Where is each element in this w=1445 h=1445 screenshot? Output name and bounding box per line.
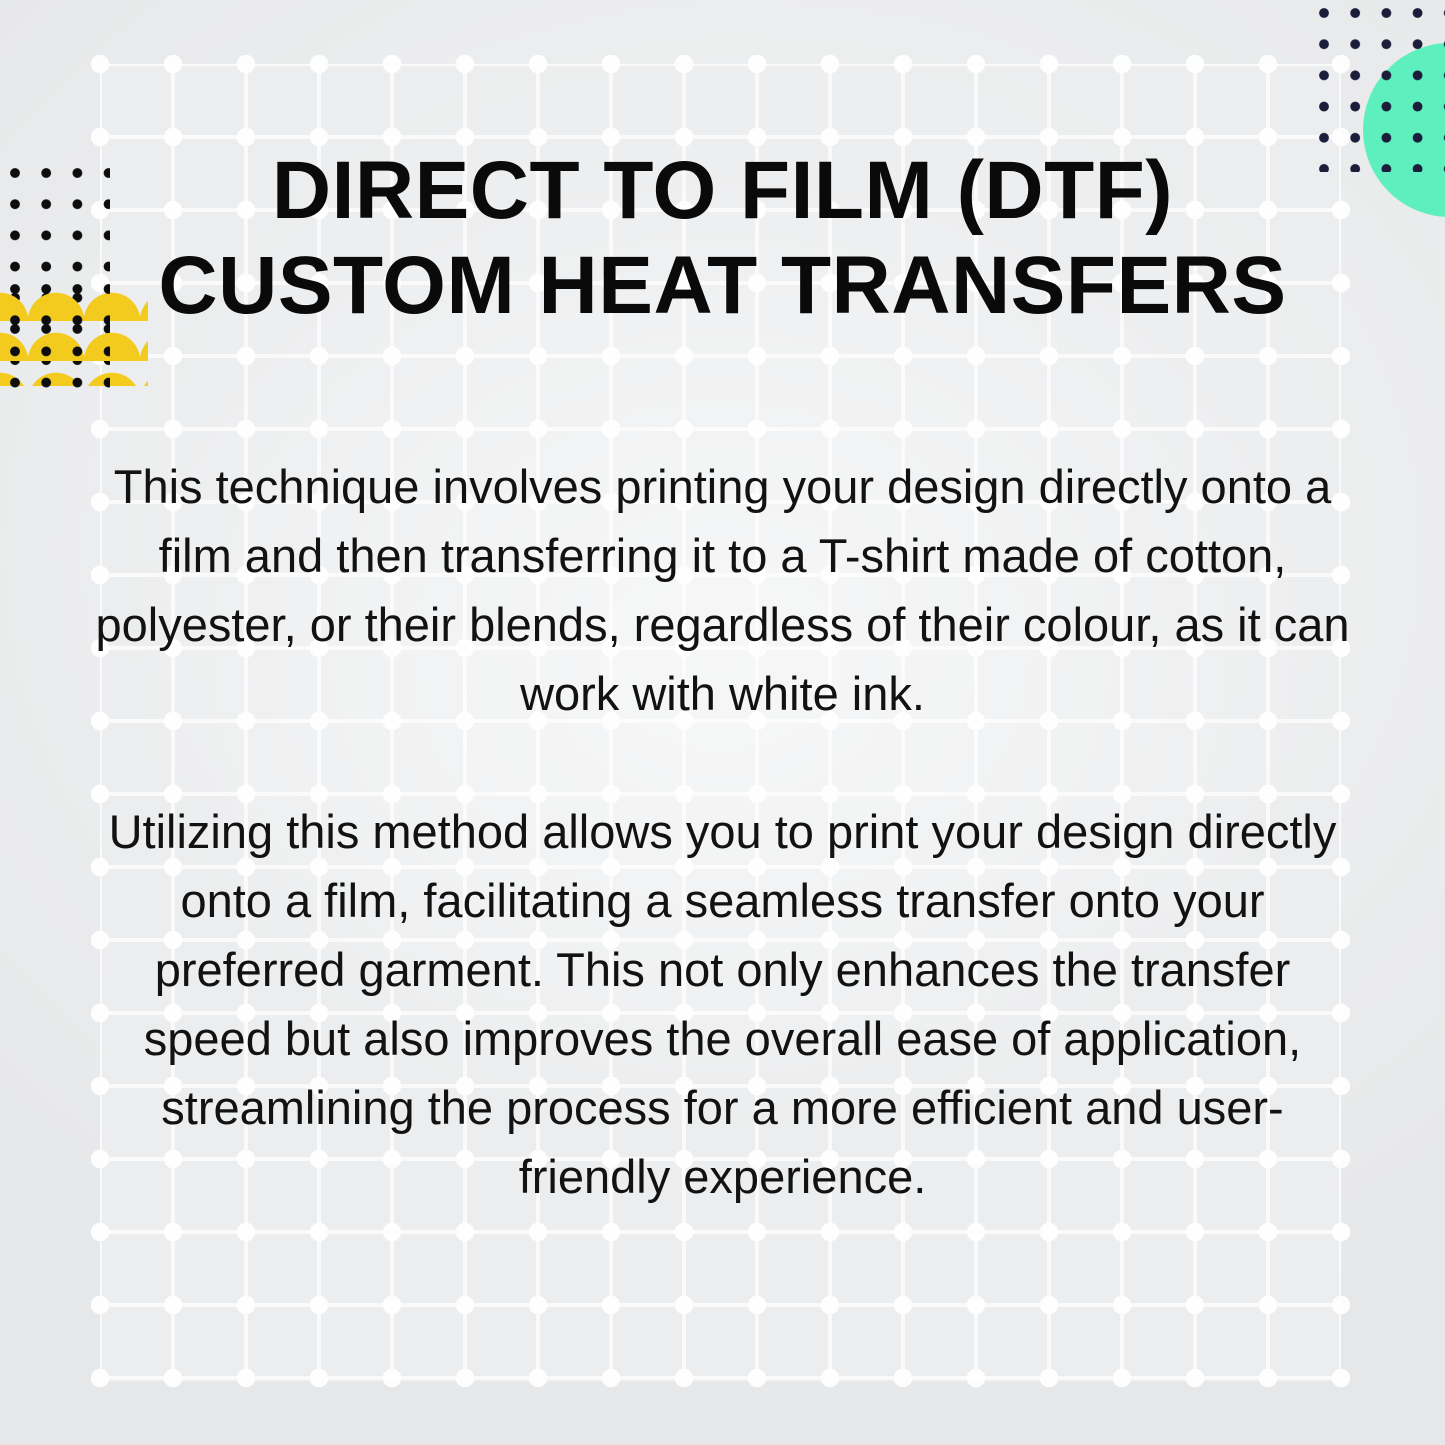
page-title: DIRECT TO FILM (DTF) CUSTOM HEAT TRANSFE… [0,143,1445,333]
page-title-line-2: CUSTOM HEAT TRANSFERS [0,238,1445,333]
body-paragraph-2: Utilizing this method allows you to prin… [95,797,1350,1211]
page-title-line-1: DIRECT TO FILM (DTF) [0,143,1445,238]
poster-canvas: DIRECT TO FILM (DTF) CUSTOM HEAT TRANSFE… [0,0,1445,1445]
body-paragraph-1: This technique involves printing your de… [95,452,1350,728]
poster-content: DIRECT TO FILM (DTF) CUSTOM HEAT TRANSFE… [0,0,1445,1445]
body-copy: This technique involves printing your de… [95,452,1350,1211]
